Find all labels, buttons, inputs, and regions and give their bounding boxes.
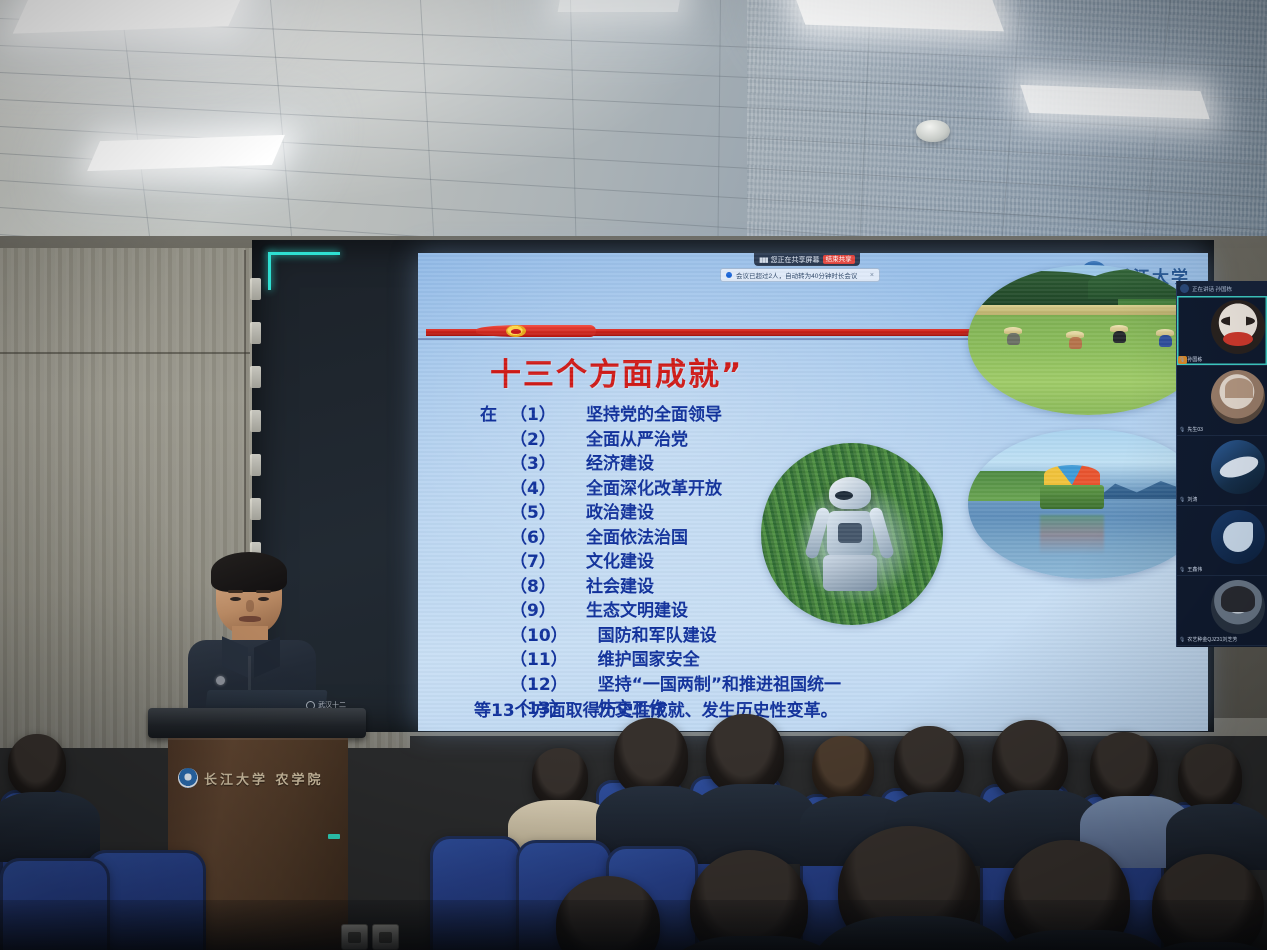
bullet-text: 全面深化改革开放 [586, 479, 722, 499]
slide-title: 十三个方面成就” [490, 349, 743, 394]
person-avatar [1211, 580, 1265, 634]
bullet-number: （4） [510, 477, 556, 502]
wall-seam [0, 352, 250, 354]
speaking-now-label: 正在讲话 孙国栋 [1192, 285, 1232, 293]
lecture-hall-scene: ▮▮▮ 您正在共享屏幕 结束共享 会议已超过2人，自动转为40分钟时长会议 × … [0, 0, 1267, 950]
bullet-text: 坚持“一国两制”和推进祖国统一 [598, 675, 841, 695]
bullet-text: 社会建设 [586, 577, 654, 597]
umbrella-icon [1044, 465, 1100, 485]
participant-tile[interactable]: 🎙农艺种金QJZ31刘芝芳 [1177, 576, 1267, 646]
participant-name: 孙国栋 [1187, 356, 1202, 363]
audience-person-head [992, 720, 1068, 800]
share-status-label: 您正在共享屏幕 [771, 255, 820, 265]
bullet-number: （10） [510, 624, 568, 649]
bullet-text: 经济建设 [586, 454, 654, 474]
bullet-text: 国防和军队建设 [598, 626, 717, 646]
signal-bars-icon: ▮▮▮ [759, 256, 768, 264]
close-icon[interactable]: × [870, 272, 874, 279]
bullet-number: （5） [510, 501, 556, 526]
audience-person-head [706, 714, 784, 794]
audience-person-shoulders [0, 792, 100, 862]
bullet-text: 文化建设 [586, 552, 654, 572]
farmer-figure [1154, 329, 1176, 347]
audience-person-head [894, 726, 964, 800]
bullet-text: 坚持党的全面领导 [586, 405, 722, 425]
participant-label: 🎙孙国栋 [1179, 356, 1202, 363]
mic-muted-icon: 🎙 [1179, 497, 1185, 503]
slide-bullet-item: （12）坚持“一国两制”和推进祖国统一 [480, 673, 841, 698]
mic-muted-icon: 🎙 [1179, 427, 1185, 433]
bullet-text: 全面依法治国 [586, 528, 688, 548]
panda-avatar [1211, 300, 1265, 354]
participant-label: 🎙刘涛 [1179, 496, 1197, 503]
bullet-number: （12） [510, 673, 568, 698]
bullet-text: 政治建设 [586, 503, 654, 523]
projected-slide: ▮▮▮ 您正在共享屏幕 结束共享 会议已超过2人，自动转为40分钟时长会议 × … [418, 253, 1208, 731]
participant-name: 刘涛 [1187, 496, 1197, 503]
bullet-text: 全面从严治党 [586, 430, 688, 450]
slide-bullet-item: 在（1）坚持党的全面领导 [480, 403, 841, 428]
audience-person-head [8, 734, 66, 796]
info-dot-icon [726, 272, 732, 278]
audience-person-head [1090, 732, 1158, 804]
ceiling [0, 0, 1267, 248]
slide-bullet-item: （10）国防和军队建设 [480, 624, 841, 649]
farmers-photo [968, 265, 1208, 415]
farmer-figure [1064, 331, 1086, 349]
smoke-detector-icon [916, 120, 950, 142]
participant-name: 先生03 [1187, 426, 1203, 433]
blue-avatar [1211, 440, 1265, 494]
participant-panel[interactable]: 正在讲话 孙国栋 🎙孙国栋🎙先生03🎙刘涛🎙王鑫伟🎙农艺种金QJZ31刘芝芳 [1176, 281, 1267, 647]
participant-tile[interactable]: 🎙先生03 [1177, 366, 1267, 436]
bullet-text: 生态文明建设 [586, 601, 688, 621]
participant-tile[interactable]: 🎙刘涛 [1177, 436, 1267, 506]
participant-label: 🎙农艺种金QJZ31刘芝芳 [1179, 636, 1237, 643]
participant-label: 🎙王鑫伟 [1179, 566, 1202, 573]
participant-tile[interactable]: 🎙孙国栋 [1177, 296, 1267, 366]
audience-person-head [614, 718, 688, 796]
participant-label: 🎙先生03 [1179, 426, 1203, 433]
participant-name: 农艺种金QJZ31刘芝芳 [1187, 636, 1237, 643]
bullet-number: （6） [510, 526, 556, 551]
agricultural-robot-icon [813, 477, 887, 593]
foreground-shadow [0, 900, 1267, 950]
farmer-figure [1108, 325, 1130, 343]
meeting-duration-toast: 会议已超过2人，自动转为40分钟时长会议 × [720, 268, 880, 282]
bullet-text: 维护国家安全 [598, 650, 700, 670]
bullet-lead-word: 在 [480, 403, 510, 428]
microphone-icon [1180, 284, 1189, 293]
screen-share-toolbar[interactable]: ▮▮▮ 您正在共享屏幕 结束共享 [754, 253, 860, 266]
cyan-accent-line-vertical [268, 252, 271, 290]
toast-message: 会议已超过2人，自动转为40分钟时长会议 [736, 270, 857, 280]
anime-avatar [1211, 370, 1265, 424]
mic-on-icon: 🎙 [1179, 357, 1185, 363]
slide-bullet-item: （11）维护国家安全 [480, 648, 841, 673]
audience-person-head [1178, 744, 1242, 810]
participant-tile[interactable]: 🎙王鑫伟 [1177, 506, 1267, 576]
audience-person-head [812, 736, 874, 800]
bullet-number: （1） [510, 403, 556, 428]
transplanter-photo [968, 429, 1208, 579]
ceiling-tile-grid [0, 0, 1267, 248]
bullet-number: （9） [510, 599, 556, 624]
slide-bullet-item: （2）全面从严治党 [480, 428, 841, 453]
logo-avatar [1211, 510, 1265, 564]
cpc-hammer-sickle-icon [506, 325, 526, 337]
participant-panel-header: 正在讲话 孙国栋 [1177, 281, 1267, 296]
bullet-number: （11） [510, 648, 568, 673]
ceiling-light-panel [558, 0, 683, 12]
stop-sharing-button[interactable]: 结束共享 [823, 255, 855, 264]
mic-muted-icon: 🎙 [1179, 637, 1185, 643]
slide-bullet-item: （9）生态文明建设 [480, 599, 841, 624]
participant-name: 王鑫伟 [1187, 566, 1202, 573]
cyan-accent-line-horizontal [268, 252, 340, 255]
audience-person-head [532, 748, 588, 806]
bullet-number: （8） [510, 575, 556, 600]
bullet-number: （2） [510, 428, 556, 453]
bullet-number: （7） [510, 550, 556, 575]
bullet-number: （3） [510, 452, 556, 477]
robot-photo [761, 443, 943, 625]
lapel-microphone-icon [216, 676, 225, 685]
mic-muted-icon: 🎙 [1179, 567, 1185, 573]
farmer-figure [1002, 327, 1024, 345]
